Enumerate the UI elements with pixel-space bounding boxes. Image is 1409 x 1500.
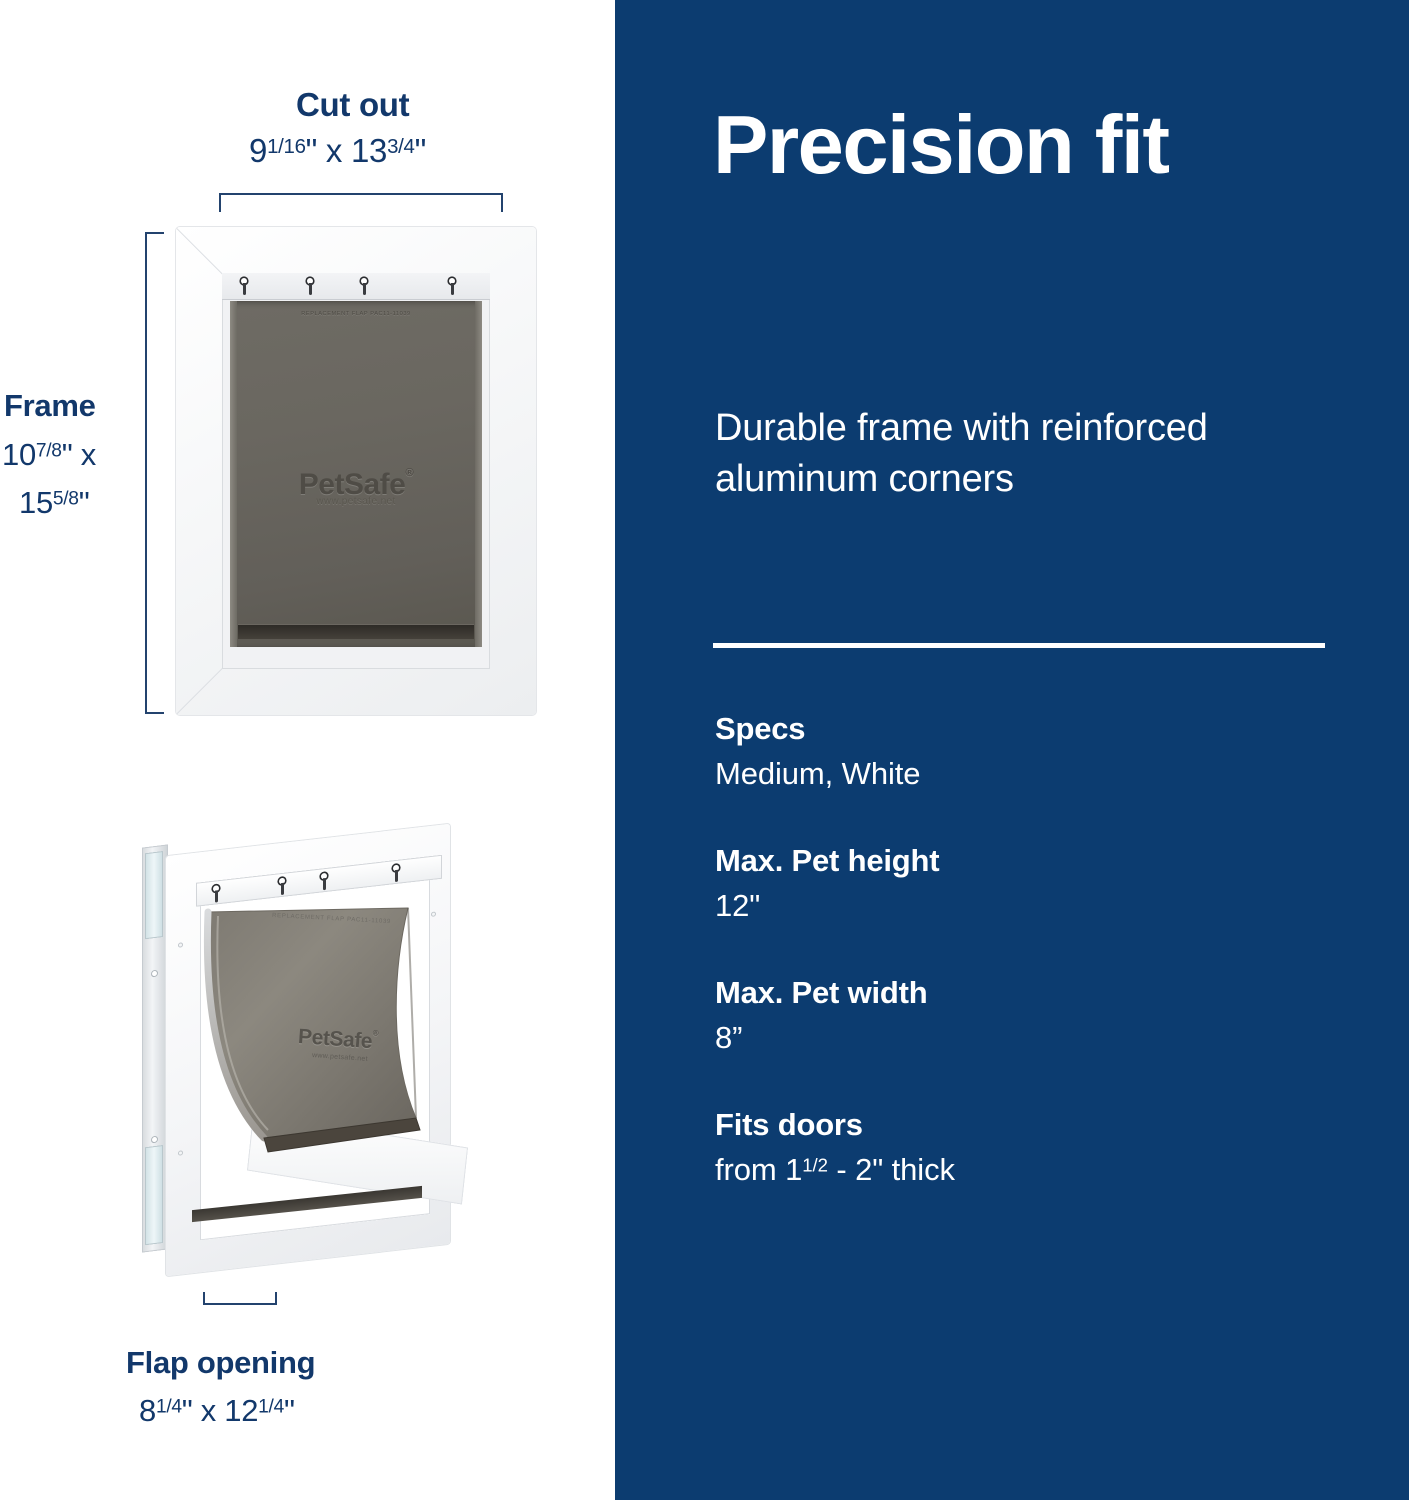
mounting-hole: [151, 1136, 158, 1144]
fits-doors-suffix: - 2" thick: [828, 1152, 955, 1187]
infographic-page: Cut out 91/16" x 133/4" Frame 107/8" x 1…: [0, 0, 1409, 1500]
spec-label: Fits doors: [715, 1106, 1335, 1143]
frame-measure-bracket: [145, 232, 164, 714]
flap-opening-dimension: 81/4" x 121/4": [139, 1393, 295, 1429]
cutout-dimension-suffix: ": [415, 132, 426, 169]
flap-dimension-num1: 8: [139, 1393, 156, 1428]
spec-item-specs: Specs Medium, White: [715, 710, 1335, 794]
side-panel-strip: [145, 1145, 163, 1245]
fits-doors-prefix: from 1: [715, 1152, 802, 1187]
spec-label: Max. Pet width: [715, 974, 1335, 1011]
flap-dimension-frac1: 1/4: [156, 1396, 182, 1417]
frame-dimension-suffix1: " x: [62, 437, 96, 472]
spec-item-fits-doors: Fits doors from 11/2 - 2" thick: [715, 1106, 1335, 1190]
flap-opening-label-title: Flap opening: [126, 1345, 315, 1381]
panel-headline: Precision fit: [713, 103, 1353, 188]
spec-value: 12": [715, 887, 1335, 926]
spec-value-fits-doors: from 11/2 - 2" thick: [715, 1151, 1335, 1190]
cutout-dimension-frac1: 1/16: [267, 135, 306, 158]
flap-bottom-weatherstrip: [238, 625, 474, 639]
hinge-pin-icon: [360, 278, 368, 295]
hinge-pin-icon: [448, 278, 456, 295]
spec-label: Specs: [715, 710, 1335, 747]
hinge-pin-icon: [240, 278, 248, 295]
door-frame-inner: REPLACEMENT FLAP PAC11-11039 PetSafe® ww…: [222, 273, 490, 669]
product-photo-open-flap-view: REPLACEMENT FLAP PAC11-11039 PetSafe® ww…: [140, 830, 550, 1295]
frame-label-title: Frame: [4, 388, 96, 424]
registered-mark-icon: ®: [405, 467, 413, 479]
frame-dimension-num1: 10: [2, 437, 36, 472]
cutout-label-title: Cut out: [296, 86, 409, 124]
cutout-dimension: 91/16" x 133/4": [249, 132, 426, 170]
frame-dimension-line1: 107/8" x: [2, 437, 96, 473]
frame-dimension-frac1: 7/8: [36, 440, 62, 461]
fits-doors-fraction: 1/2: [802, 1155, 828, 1176]
cutout-measure-bracket: [219, 193, 503, 212]
frame-dimension-frac2: 5/8: [53, 488, 79, 509]
door-frame-side-profile: [142, 844, 168, 1252]
hinge-pin-icon: [212, 885, 220, 903]
mounting-hole: [178, 942, 183, 948]
spec-label: Max. Pet height: [715, 842, 1335, 879]
side-panel-strip: [145, 851, 163, 939]
flap-opening-measure-bracket: [203, 1292, 277, 1305]
petsafe-url-text: www.petsafe.net: [230, 496, 482, 507]
feature-panel: Precision fit Durable frame with reinfor…: [615, 0, 1409, 1500]
panel-divider: [713, 643, 1325, 648]
hinge-pin-icon: [306, 278, 314, 295]
registered-mark-icon: ®: [372, 1028, 378, 1037]
petsafe-logo-text: PetSafe: [297, 1025, 373, 1053]
spec-value: 8”: [715, 1019, 1335, 1058]
hinge-rail: [222, 273, 490, 300]
mounting-hole: [151, 970, 158, 978]
frame-dimension-num2: 15: [19, 485, 53, 520]
hinge-pin-icon: [392, 865, 400, 883]
hinge-pin-icon: [278, 878, 286, 896]
spec-list: Specs Medium, White Max. Pet height 12" …: [715, 710, 1335, 1190]
spec-item-max-pet-height: Max. Pet height 12": [715, 842, 1335, 926]
flap-replacement-code-text: REPLACEMENT FLAP PAC11-11039: [230, 311, 482, 317]
door-flap: REPLACEMENT FLAP PAC11-11039 PetSafe® ww…: [230, 301, 482, 647]
cutout-dimension-num1: 9: [249, 132, 267, 169]
frame-dimension-line2: 155/8": [19, 485, 89, 521]
panel-subheadline: Durable frame with reinforced aluminum c…: [715, 403, 1235, 504]
flap-dimension-suffix: ": [284, 1393, 295, 1428]
cutout-dimension-frac2: 3/4: [387, 135, 415, 158]
hinge-pin-icon: [320, 873, 328, 891]
flap-dimension-frac2: 1/4: [258, 1396, 284, 1417]
product-photo-front-view: REPLACEMENT FLAP PAC11-11039 PetSafe® ww…: [176, 227, 536, 715]
frame-dimension-suffix2: ": [79, 485, 90, 520]
flap-dimension-mid: " x 12: [182, 1393, 258, 1428]
spec-value: Medium, White: [715, 755, 1335, 794]
spec-item-max-pet-width: Max. Pet width 8”: [715, 974, 1335, 1058]
petsafe-logo: PetSafe®: [297, 1023, 378, 1054]
mounting-hole: [178, 1150, 183, 1156]
door-flap-open: REPLACEMENT FLAP PAC11-11039 PetSafe® ww…: [202, 902, 452, 1172]
cutout-dimension-mid: " x 13: [306, 132, 387, 169]
